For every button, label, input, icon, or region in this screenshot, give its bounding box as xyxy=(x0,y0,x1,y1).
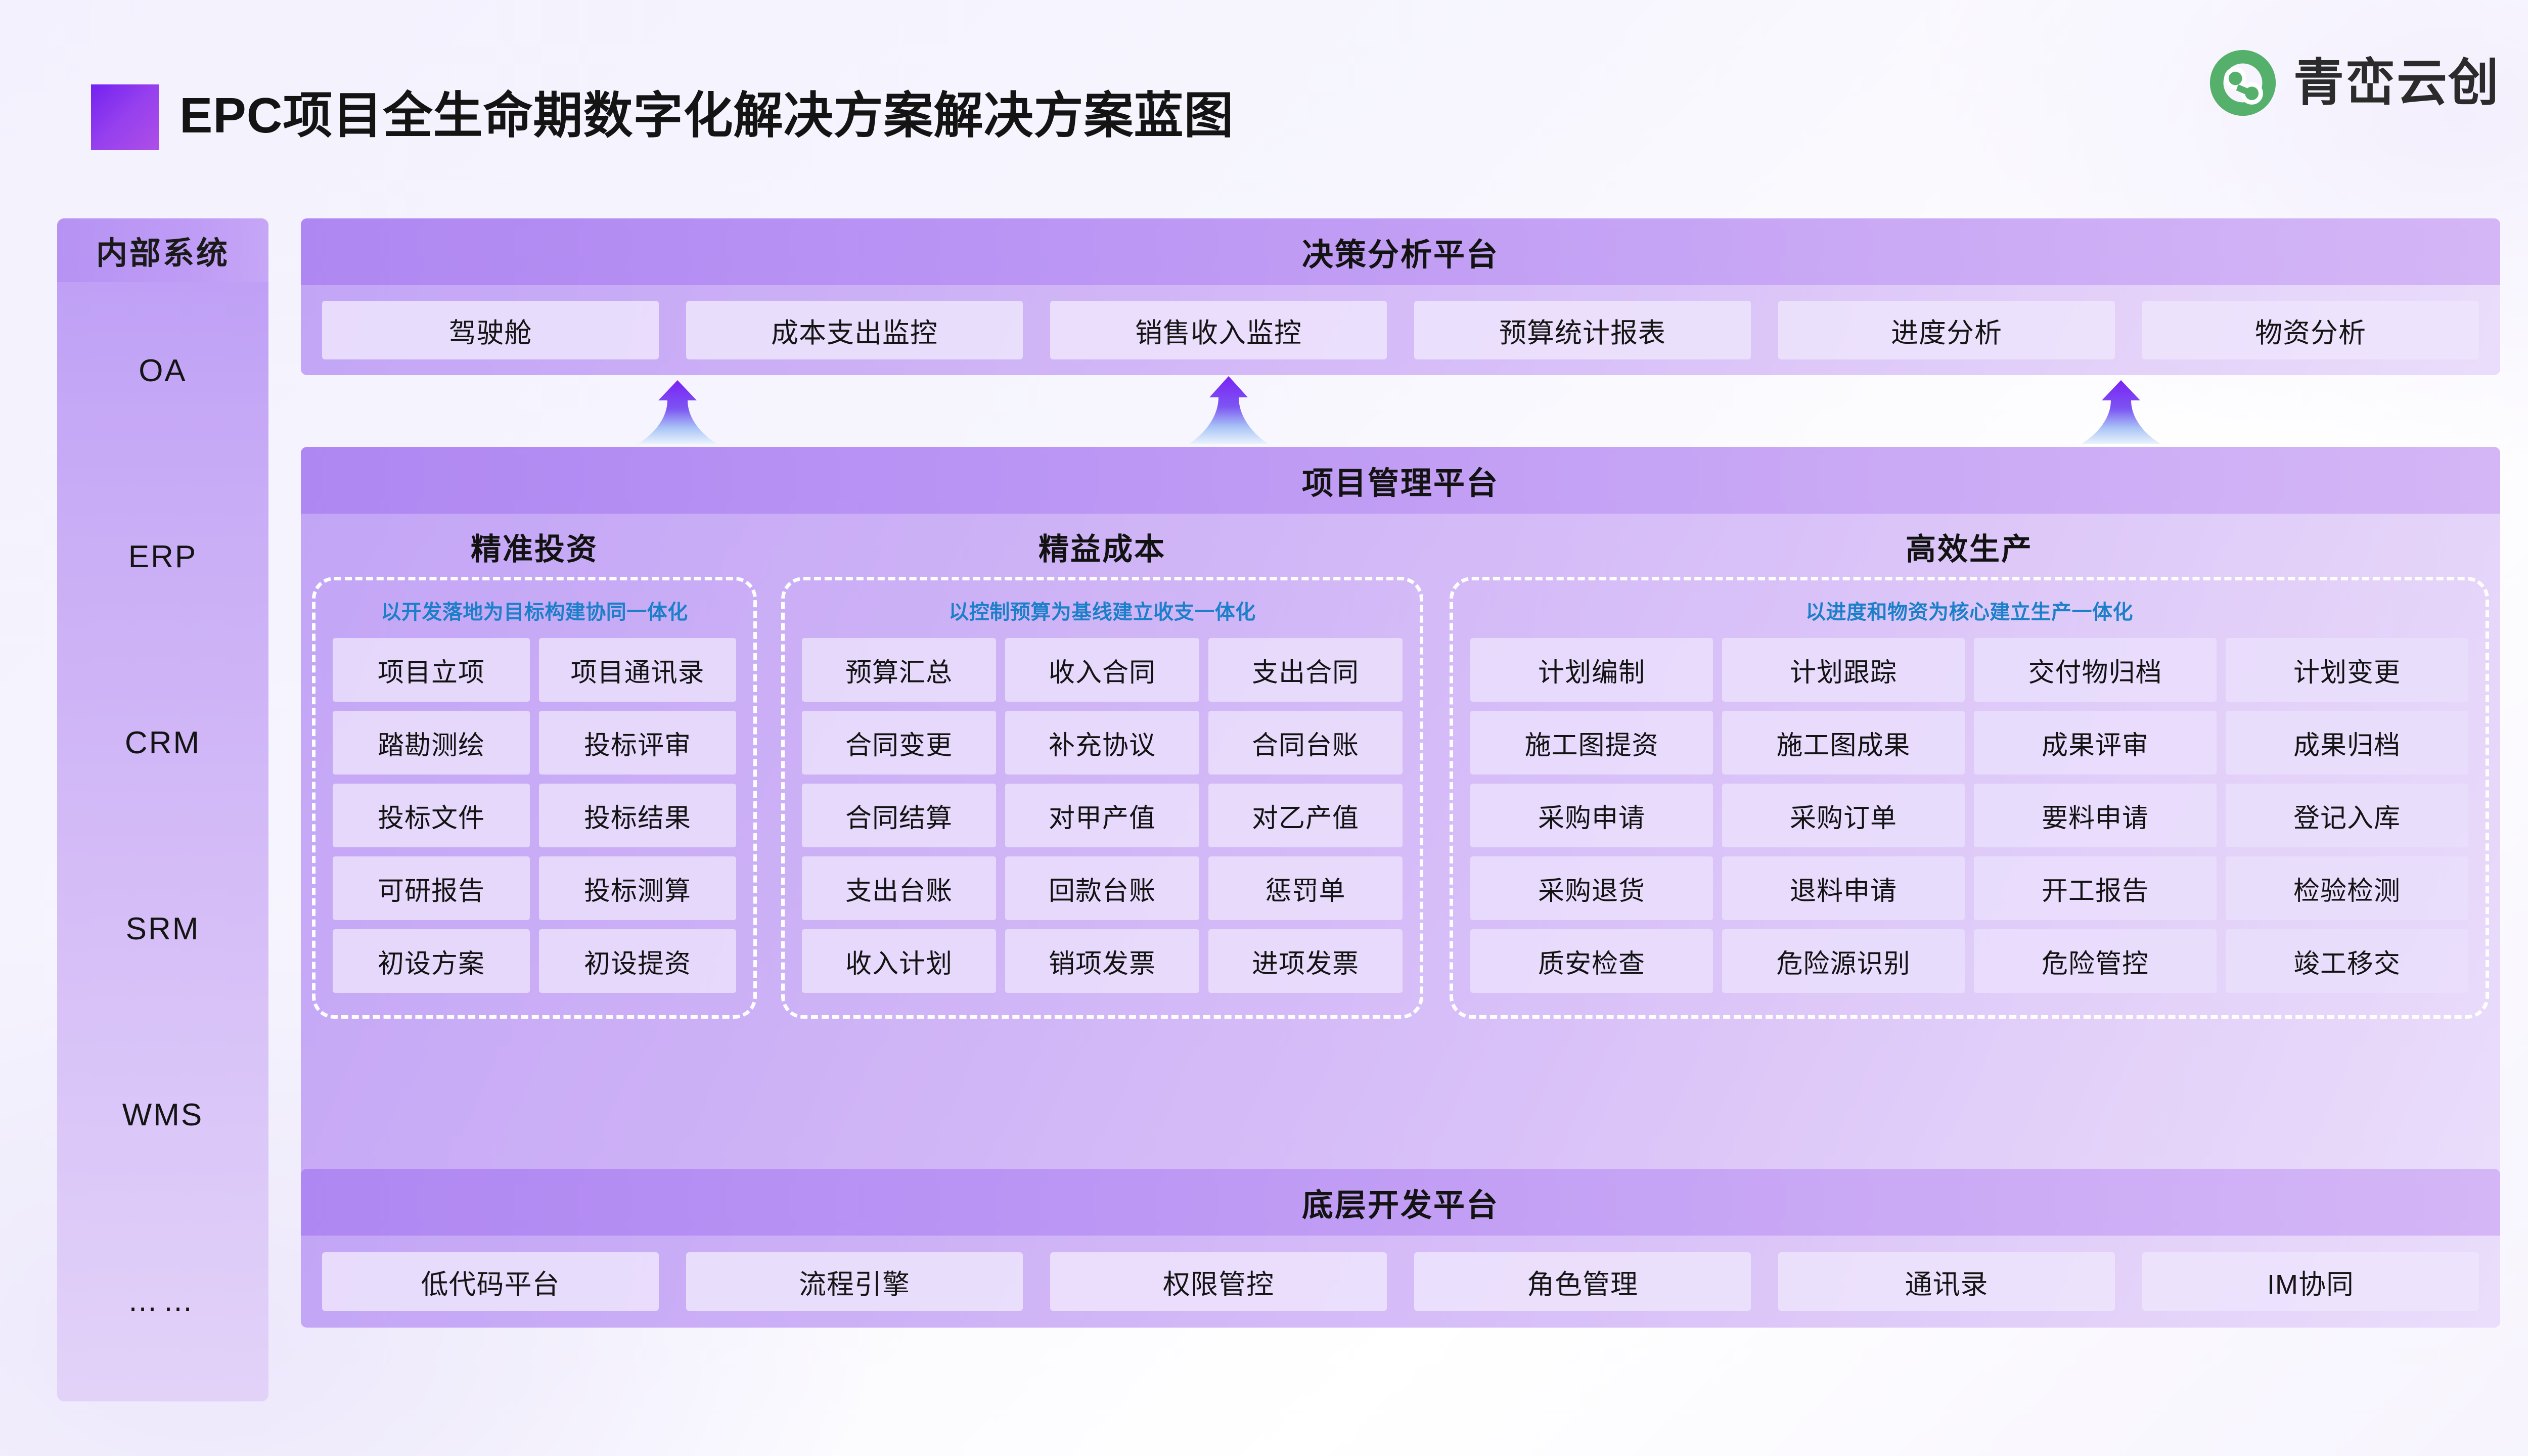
cell-invest-7[interactable]: 投标测算 xyxy=(539,856,736,920)
sidebar-header: 内部系统 xyxy=(57,218,268,282)
project-platform-title: 项目管理平台 xyxy=(1302,458,1499,503)
cell-prod-13[interactable]: 退料申请 xyxy=(1722,856,1965,920)
decision-item-cockpit[interactable]: 驾驶舱 xyxy=(322,301,659,359)
column-title-cost: 精益成本 xyxy=(781,525,1423,569)
brand-name: 青峦云创 xyxy=(2293,58,2500,108)
cell-invest-9[interactable]: 初设提资 xyxy=(539,929,736,993)
column-subtitle-prod: 以进度和物资为核心建立生产一体化 xyxy=(1470,596,2468,625)
main-diagram: 决策分析平台 驾驶舱 成本支出监控 销售收入监控 预算统计报表 进度分析 物资分… xyxy=(301,218,2500,1401)
decision-platform-header: 决策分析平台 xyxy=(301,218,2500,285)
cell-prod-6[interactable]: 成果评审 xyxy=(1974,711,2217,775)
base-item-contacts[interactable]: 通讯录 xyxy=(1778,1252,2115,1311)
base-item-role[interactable]: 角色管理 xyxy=(1414,1252,1751,1311)
base-platform-title: 底层开发平台 xyxy=(1302,1179,1499,1225)
up-arrow-icon-3 xyxy=(2070,375,2172,447)
base-platform-header: 底层开发平台 xyxy=(301,1169,2500,1236)
base-item-workflow[interactable]: 流程引擎 xyxy=(686,1252,1023,1311)
cell-prod-12[interactable]: 采购退货 xyxy=(1470,856,1713,920)
decision-platform-items: 驾驶舱 成本支出监控 销售收入监控 预算统计报表 进度分析 物资分析 xyxy=(301,285,2500,375)
cell-cost-3[interactable]: 合同变更 xyxy=(802,711,996,775)
column-grid-cost: 预算汇总 收入合同 支出合同 合同变更 补充协议 合同台账 合同结算 对甲产值 … xyxy=(802,638,1403,993)
cell-prod-10[interactable]: 要料申请 xyxy=(1974,784,2217,847)
cell-prod-11[interactable]: 登记入库 xyxy=(2226,784,2468,847)
cell-prod-0[interactable]: 计划编制 xyxy=(1470,638,1713,702)
cell-prod-2[interactable]: 交付物归档 xyxy=(1974,638,2217,702)
cell-prod-5[interactable]: 施工图成果 xyxy=(1722,711,1965,775)
cell-invest-2[interactable]: 踏勘测绘 xyxy=(333,711,530,775)
cell-cost-7[interactable]: 对甲产值 xyxy=(1005,784,1199,847)
cell-cost-1[interactable]: 收入合同 xyxy=(1005,638,1199,702)
base-item-im[interactable]: IM协同 xyxy=(2142,1252,2479,1311)
cell-prod-19[interactable]: 竣工移交 xyxy=(2226,929,2468,993)
cell-invest-1[interactable]: 项目通讯录 xyxy=(539,638,736,702)
cell-prod-17[interactable]: 危险源识别 xyxy=(1722,929,1965,993)
sidebar-item-srm[interactable]: SRM xyxy=(57,911,268,947)
cell-prod-15[interactable]: 检验检测 xyxy=(2226,856,2468,920)
column-grid-invest: 项目立项 项目通讯录 踏勘测绘 投标评审 投标文件 投标结果 可研报告 投标测算… xyxy=(333,638,736,993)
flow-arrows xyxy=(301,375,2500,447)
title-accent-square xyxy=(91,84,159,150)
column-precision-investment: 精准投资 以开发落地为目标构建协同一体化 项目立项 项目通讯录 踏勘测绘 投标评… xyxy=(312,525,757,1019)
column-box-invest: 以开发落地为目标构建协同一体化 项目立项 项目通讯录 踏勘测绘 投标评审 投标文… xyxy=(312,577,757,1019)
decision-platform-title: 决策分析平台 xyxy=(1302,229,1499,275)
cell-cost-4[interactable]: 补充协议 xyxy=(1005,711,1199,775)
base-development-platform: 底层开发平台 低代码平台 流程引擎 权限管控 角色管理 通讯录 IM协同 xyxy=(301,1169,2500,1328)
page-title: EPC项目全生命期数字化解决方案解决方案蓝图 xyxy=(179,80,1234,151)
sidebar-item-oa[interactable]: OA xyxy=(57,353,268,389)
cell-cost-6[interactable]: 合同结算 xyxy=(802,784,996,847)
cell-prod-18[interactable]: 危险管控 xyxy=(1974,929,2217,993)
cell-prod-1[interactable]: 计划跟踪 xyxy=(1722,638,1965,702)
cell-invest-0[interactable]: 项目立项 xyxy=(333,638,530,702)
column-lean-cost: 精益成本 以控制预算为基线建立收支一体化 预算汇总 收入合同 支出合同 合同变更… xyxy=(781,525,1423,1019)
cell-cost-5[interactable]: 合同台账 xyxy=(1208,711,1403,775)
sidebar-item-wms[interactable]: WMS xyxy=(57,1097,268,1133)
project-platform-body: 精准投资 以开发落地为目标构建协同一体化 项目立项 项目通讯录 踏勘测绘 投标评… xyxy=(301,514,2500,1207)
column-title-prod: 高效生产 xyxy=(1450,525,2489,569)
column-subtitle-cost: 以控制预算为基线建立收支一体化 xyxy=(802,596,1403,625)
cell-cost-11[interactable]: 惩罚单 xyxy=(1208,856,1403,920)
qinglan-logo-icon xyxy=(2205,45,2280,120)
column-efficient-production: 高效生产 以进度和物资为核心建立生产一体化 计划编制 计划跟踪 交付物归档 计划… xyxy=(1450,525,2489,1019)
project-management-platform: 项目管理平台 精准投资 以开发落地为目标构建协同一体化 项目立项 项目通讯录 踏… xyxy=(301,447,2500,1207)
cell-invest-5[interactable]: 投标结果 xyxy=(539,784,736,847)
cell-invest-3[interactable]: 投标评审 xyxy=(539,711,736,775)
column-title-invest: 精准投资 xyxy=(312,525,757,569)
column-box-prod: 以进度和物资为核心建立生产一体化 计划编制 计划跟踪 交付物归档 计划变更 施工… xyxy=(1450,577,2489,1019)
cell-prod-8[interactable]: 采购申请 xyxy=(1470,784,1713,847)
cell-cost-2[interactable]: 支出合同 xyxy=(1208,638,1403,702)
cell-invest-6[interactable]: 可研报告 xyxy=(333,856,530,920)
cell-cost-8[interactable]: 对乙产值 xyxy=(1208,784,1403,847)
page-header: EPC项目全生命期数字化解决方案解决方案蓝图 青峦云创 xyxy=(0,0,2528,202)
cell-cost-12[interactable]: 收入计划 xyxy=(802,929,996,993)
base-item-permission[interactable]: 权限管控 xyxy=(1050,1252,1387,1311)
cell-prod-14[interactable]: 开工报告 xyxy=(1974,856,2217,920)
cell-cost-14[interactable]: 进项发票 xyxy=(1208,929,1403,993)
cell-cost-10[interactable]: 回款台账 xyxy=(1005,856,1199,920)
project-platform-header: 项目管理平台 xyxy=(301,447,2500,514)
column-box-cost: 以控制预算为基线建立收支一体化 预算汇总 收入合同 支出合同 合同变更 补充协议… xyxy=(781,577,1423,1019)
cell-cost-9[interactable]: 支出台账 xyxy=(802,856,996,920)
internal-systems-sidebar: 内部系统 OA ERP CRM SRM WMS …… xyxy=(57,218,268,1401)
cell-prod-7[interactable]: 成果归档 xyxy=(2226,711,2468,775)
decision-analysis-platform: 决策分析平台 驾驶舱 成本支出监控 销售收入监控 预算统计报表 进度分析 物资分… xyxy=(301,218,2500,375)
cell-cost-0[interactable]: 预算汇总 xyxy=(802,638,996,702)
decision-item-cost-monitor[interactable]: 成本支出监控 xyxy=(686,301,1023,359)
sidebar-item-erp[interactable]: ERP xyxy=(57,539,268,575)
cell-prod-3[interactable]: 计划变更 xyxy=(2226,638,2468,702)
sidebar-list: OA ERP CRM SRM WMS …… xyxy=(57,282,268,1401)
cell-prod-16[interactable]: 质安检查 xyxy=(1470,929,1713,993)
cell-invest-8[interactable]: 初设方案 xyxy=(333,929,530,993)
decision-item-revenue-monitor[interactable]: 销售收入监控 xyxy=(1050,301,1387,359)
brand-logo: 青峦云创 xyxy=(2205,45,2500,120)
up-arrow-icon-2 xyxy=(1178,375,1279,447)
cell-prod-9[interactable]: 采购订单 xyxy=(1722,784,1965,847)
column-grid-prod: 计划编制 计划跟踪 交付物归档 计划变更 施工图提资 施工图成果 成果评审 成果… xyxy=(1470,638,2468,993)
base-item-lowcode[interactable]: 低代码平台 xyxy=(322,1252,659,1311)
base-platform-items: 低代码平台 流程引擎 权限管控 角色管理 通讯录 IM协同 xyxy=(301,1236,2500,1328)
column-subtitle-invest: 以开发落地为目标构建协同一体化 xyxy=(333,596,736,625)
sidebar-item-crm[interactable]: CRM xyxy=(57,725,268,761)
sidebar-item-more[interactable]: …… xyxy=(57,1283,268,1318)
decision-item-progress[interactable]: 进度分析 xyxy=(1778,301,2115,359)
up-arrow-icon-1 xyxy=(627,375,728,447)
cell-invest-4[interactable]: 投标文件 xyxy=(333,784,530,847)
sidebar-title: 内部系统 xyxy=(96,227,230,273)
cell-prod-4[interactable]: 施工图提资 xyxy=(1470,711,1713,775)
decision-item-material[interactable]: 物资分析 xyxy=(2142,301,2479,359)
decision-item-budget-report[interactable]: 预算统计报表 xyxy=(1414,301,1751,359)
cell-cost-13[interactable]: 销项发票 xyxy=(1005,929,1199,993)
